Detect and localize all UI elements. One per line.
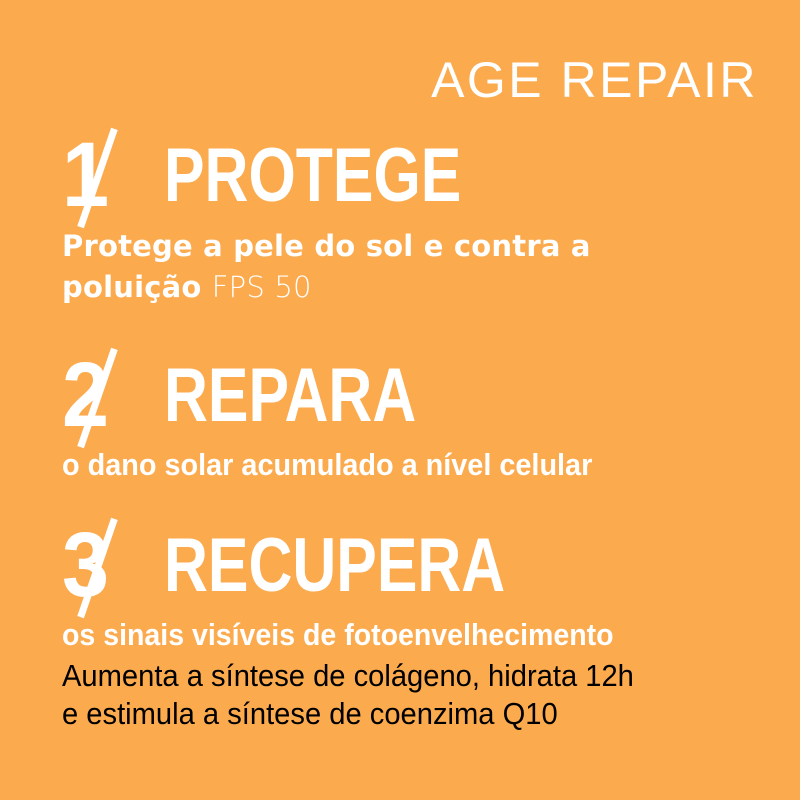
step-1-body-light: FPS 50 <box>212 270 312 304</box>
step-3-heading: 3 RECUPERA <box>62 522 760 614</box>
step-1-body-strong: Protege a pele do sol e contra a poluiçã… <box>62 229 591 304</box>
step-block-3: 3 RECUPERA os sinais visíveis de fotoenv… <box>62 522 760 733</box>
step-3-body-light: Aumenta a síntese de colágeno, hidrata 1… <box>62 657 718 733</box>
step-2-body-strong: o dano solar acumulado a nível celular <box>62 446 711 484</box>
step-title-1: PROTEGE <box>164 132 461 216</box>
step-number-mark-2: 2 <box>62 352 146 444</box>
step-3-body-light-line-1: Aumenta a síntese de colágeno, hidrata 1… <box>62 657 718 695</box>
step-3-body-light-line-2: e estimula a síntese de coenzima Q10 <box>62 695 718 733</box>
brand-title: AGE REPAIR <box>431 55 758 105</box>
step-number-mark-3: 3 <box>62 522 146 614</box>
step-title-3: RECUPERA <box>164 522 505 606</box>
age-repair-poster: AGE REPAIR 1 PROTEGE Protege a pele do s… <box>0 0 800 800</box>
step-3-body-strong: os sinais visíveis de fotoenvelhecimento <box>62 616 704 654</box>
step-block-1: 1 PROTEGE Protege a pele do sol e contra… <box>62 132 760 308</box>
step-1-heading: 1 PROTEGE <box>62 132 760 224</box>
step-2-heading: 2 REPARA <box>62 352 760 444</box>
step-1-body: Protege a pele do sol e contra a poluiçã… <box>62 226 702 308</box>
step-number-mark-1: 1 <box>62 132 146 224</box>
step-title-2: REPARA <box>164 352 416 436</box>
step-block-2: 2 REPARA o dano solar acumulado a nível … <box>62 352 760 484</box>
